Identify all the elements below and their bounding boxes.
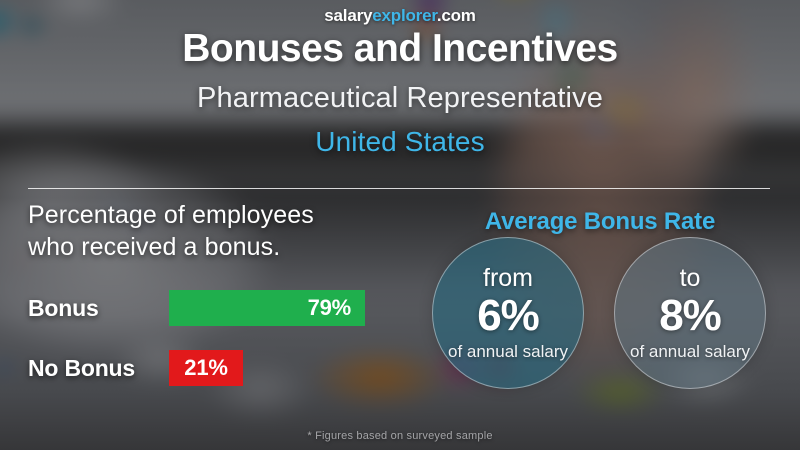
to-value: 8% [659,293,721,339]
no-bonus-row: No Bonus 21% [28,350,243,386]
poster-content: salaryexplorer.com Bonuses and Incentive… [0,0,800,450]
logo-part-explorer: explorer [372,6,437,25]
from-value: 6% [477,293,539,339]
caption-line-2: who received a bonus. [28,232,314,264]
header-divider [28,188,770,189]
bonus-row-label: Bonus [28,295,169,322]
no-bonus-bar-value: 21% [184,355,227,381]
no-bonus-bar: 21% [169,350,243,386]
page-title: Bonuses and Incentives [0,28,800,70]
job-title-subtitle: Pharmaceutical Representative [0,83,800,115]
from-prefix: from [483,266,533,291]
bonus-rate-to-circle: to 8% of annual salary [614,237,766,389]
logo-part-salary: salary [324,6,372,25]
average-bonus-rate-title: Average Bonus Rate [420,208,780,236]
bonus-bar: 79% [169,290,365,326]
country-label: United States [0,127,800,158]
from-sublabel: of annual salary [448,343,568,360]
bonus-row: Bonus 79% [28,290,365,326]
to-sublabel: of annual salary [630,343,750,360]
logo-part-tld: .com [437,6,476,25]
infographic-poster: salaryexplorer.com Bonuses and Incentive… [0,0,800,450]
bonus-percentage-caption: Percentage of employees who received a b… [28,200,314,263]
to-prefix: to [680,266,701,291]
bonus-rate-from-circle: from 6% of annual salary [432,237,584,389]
no-bonus-row-label: No Bonus [28,355,169,382]
footnote: * Figures based on surveyed sample [0,430,800,442]
bonus-bar-value: 79% [308,295,351,321]
site-logo[interactable]: salaryexplorer.com [0,7,800,24]
caption-line-1: Percentage of employees [28,200,314,232]
